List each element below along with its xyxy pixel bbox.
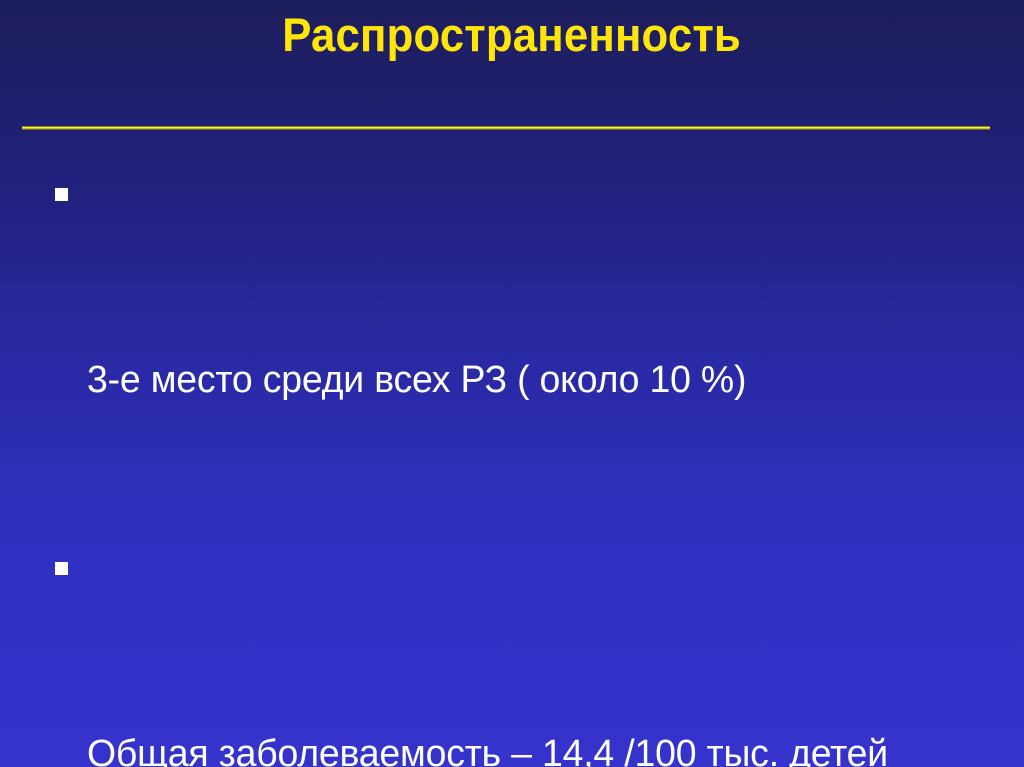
slide-body: 3-е место среди всех РЗ ( около 10 %) Об…: [44, 163, 994, 767]
list-item: 3-е место среди всех РЗ ( около 10 %): [44, 163, 994, 535]
list-item-label: 3-е место среди всех РЗ ( около 10 %): [87, 349, 980, 411]
slide-title-area: Распространенность: [0, 10, 1024, 59]
title-divider-rule: [22, 126, 990, 130]
list-item: Общая заболеваемость – 14,4 /100 тыс. де…: [44, 537, 994, 767]
list-item-label: Общая заболеваемость – 14,4 /100 тыс. де…: [87, 723, 980, 767]
square-bullet-icon: [55, 562, 68, 575]
presentation-slide: Распространенность 3-е место среди всех …: [0, 0, 1024, 767]
square-bullet-icon: [55, 188, 68, 201]
page-title: Распространенность: [283, 10, 742, 59]
